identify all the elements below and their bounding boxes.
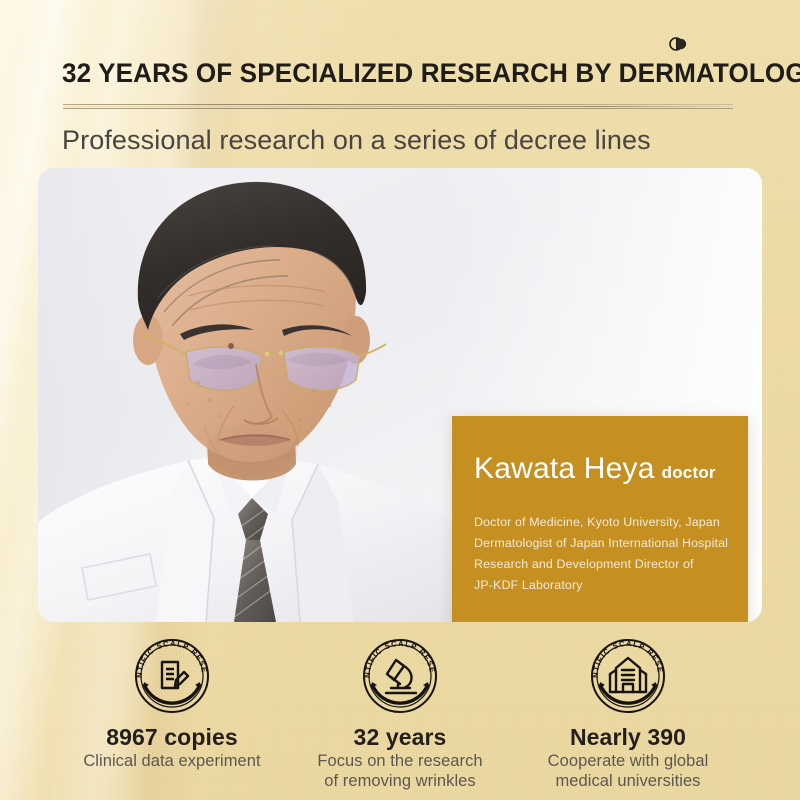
stat-description: Cooperate with global medical universiti…	[548, 751, 709, 791]
page-title: 32 YEARS OF SPECIALIZED RESEARCH BY DERM…	[62, 58, 742, 89]
promotional-poster: 32 YEARS OF SPECIALIZED RESEARCH BY DERM…	[0, 0, 800, 800]
document-pencil-icon: SCIENTIFIC SCALP RESEARCH	[132, 636, 212, 716]
contrast-toggle-icon[interactable]	[668, 36, 690, 52]
stat-description: Focus on the research of removing wrinkl…	[317, 751, 482, 791]
credential-line: Doctor of Medicine, Kyoto University, Ja…	[474, 512, 736, 533]
stat-description: Clinical data experiment	[83, 751, 260, 771]
doctor-credentials: Doctor of Medicine, Kyoto University, Ja…	[474, 512, 736, 596]
stat-item-years: SCIENTIFIC SCALP RESEARCH 32 years Focus…	[286, 636, 514, 791]
page-subtitle: Professional research on a series of dec…	[62, 125, 651, 156]
credential-line: JP-KDF Laboratory	[474, 575, 736, 596]
doctor-photo-card: Kawata Heyadoctor Doctor of Medicine, Ky…	[38, 168, 762, 622]
stat-value: 8967 copies	[106, 724, 238, 750]
doctor-name-text: Kawata Heya	[474, 452, 655, 485]
stat-item-copies: SCIENTIFIC SCALP RESEARCH 8967 copies Cl…	[58, 636, 286, 771]
university-building-icon: SCIENTIFIC SCALP RESEARCH	[588, 636, 668, 716]
credential-line: Research and Development Director of	[474, 554, 736, 575]
credential-line: Dermatologist of Japan International Hos…	[474, 533, 736, 554]
doctor-role: doctor	[662, 463, 716, 482]
title-divider	[63, 104, 733, 109]
stats-row: SCIENTIFIC SCALP RESEARCH 8967 copies Cl…	[0, 636, 800, 800]
stat-item-universities: SCIENTIFIC SCALP RESEARCH Nearly 390 Coo…	[514, 636, 742, 791]
microscope-icon: SCIENTIFIC SCALP RESEARCH	[360, 636, 440, 716]
svg-text:SCIENTIFIC SCALP RESEARCH: SCIENTIFIC SCALP RESEARCH	[588, 636, 665, 678]
doctor-name: Kawata Heyadoctor	[474, 452, 716, 486]
doctor-info-card: Kawata Heyadoctor Doctor of Medicine, Ky…	[452, 416, 748, 622]
doctor-portrait	[38, 168, 468, 622]
svg-text:SCIENTIFIC SCALP RESEARCH: SCIENTIFIC SCALP RESEARCH	[132, 636, 209, 678]
stat-value: Nearly 390	[570, 724, 686, 750]
stat-value: 32 years	[354, 724, 447, 750]
